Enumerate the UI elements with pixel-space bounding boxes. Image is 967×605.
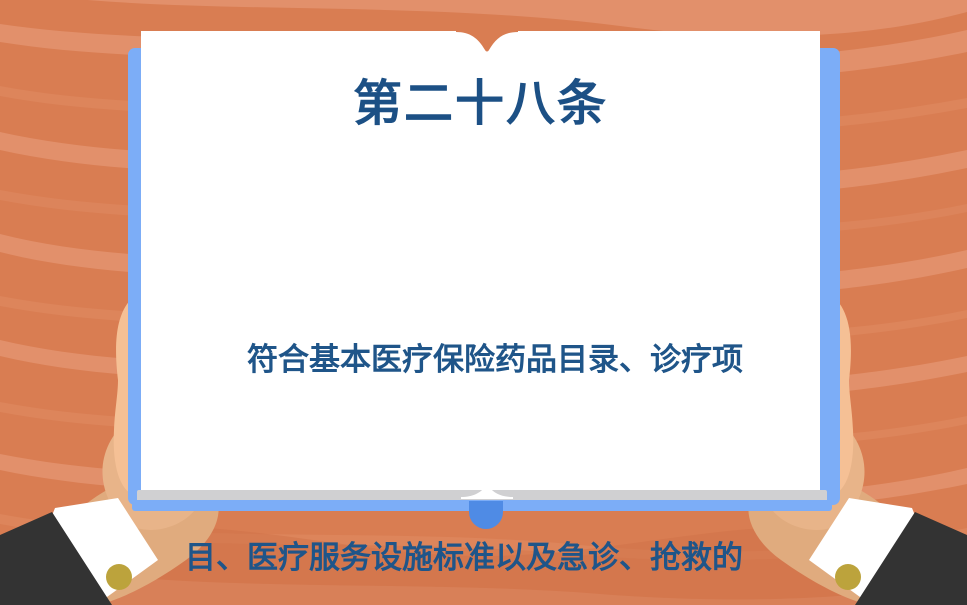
article-body-line: 符合基本医疗保险药品目录、诊疗项 bbox=[185, 327, 785, 393]
right-cufflink-icon bbox=[835, 564, 861, 590]
card-text-block: 第二十八条 符合基本医疗保险药品目录、诊疗项 目、医疗服务设施标准以及急诊、抢救… bbox=[141, 31, 820, 496]
left-cufflink-icon bbox=[106, 564, 132, 590]
article-card: 第二十八条 符合基本医疗保险药品目录、诊疗项 目、医疗服务设施标准以及急诊、抢救… bbox=[128, 31, 840, 521]
article-title: 第二十八条 bbox=[141, 79, 820, 128]
article-body-line: 目、医疗服务设施标准以及急诊、抢救的 bbox=[185, 525, 785, 591]
slide-canvas: 第二十八条 符合基本医疗保险药品目录、诊疗项 目、医疗服务设施标准以及急诊、抢救… bbox=[0, 0, 967, 605]
article-body: 符合基本医疗保险药品目录、诊疗项 目、医疗服务设施标准以及急诊、抢救的 医疗费用… bbox=[185, 195, 785, 605]
